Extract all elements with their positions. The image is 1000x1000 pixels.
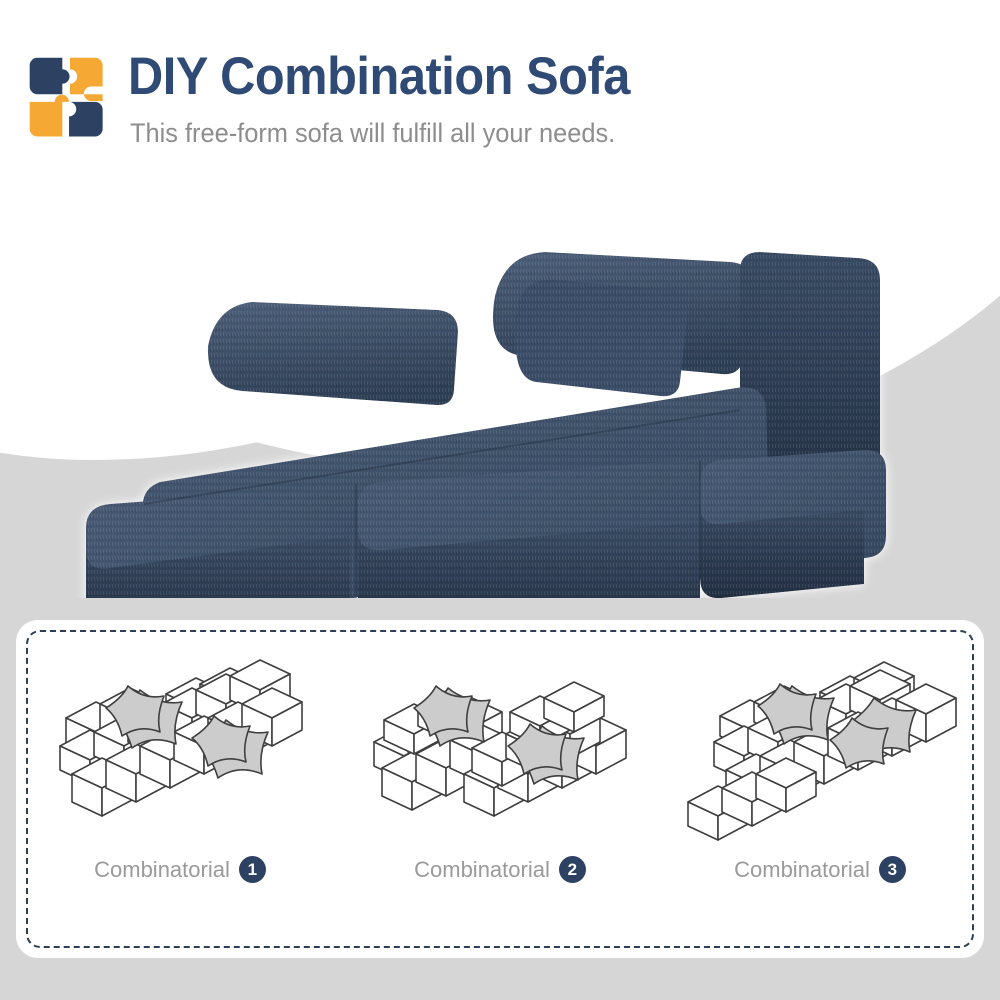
combination-badge-1: 1 [239, 856, 266, 883]
sofa-illustration [40, 178, 970, 598]
combination-badge-2: 2 [559, 856, 586, 883]
sofa-layout-with-ottoman-icon [680, 646, 960, 846]
combination-item-3[interactable]: Combinatorial 3 [660, 624, 980, 954]
combination-label-1: Combinatorial 1 [94, 856, 266, 883]
product-photo [40, 178, 970, 598]
combination-label-text-3: Combinatorial [734, 857, 870, 883]
combinations-card: Combinatorial 1 [20, 624, 980, 954]
page-subtitle: This free-form sofa will fulfill all you… [130, 116, 615, 150]
sofa-seat-module-3 [700, 450, 886, 598]
combination-list: Combinatorial 1 [20, 624, 980, 954]
hero-section: DIY Combination Sofa This free-form sofa… [0, 0, 1000, 612]
combination-label-3: Combinatorial 3 [734, 856, 906, 883]
sofa-cutout-group [86, 252, 886, 598]
combination-item-2[interactable]: Combinatorial 2 [340, 624, 660, 954]
header: DIY Combination Sofa This free-form sofa… [0, 0, 1000, 172]
combination-badge-3: 3 [879, 856, 906, 883]
sofa-seat-module-2 [358, 460, 720, 598]
pillow-back-right-front [515, 280, 688, 396]
page-title: DIY Combination Sofa [128, 48, 630, 106]
combination-label-text-1: Combinatorial [94, 857, 230, 883]
sofa-layout-offset-icon [360, 646, 640, 846]
pillow-back-left [208, 302, 458, 405]
combination-label-text-2: Combinatorial [414, 857, 550, 883]
combination-label-2: Combinatorial 2 [414, 856, 586, 883]
combination-item-1[interactable]: Combinatorial 1 [20, 624, 340, 954]
sofa-layout-straight-icon [40, 646, 320, 846]
product-marketing-page: DIY Combination Sofa This free-form sofa… [0, 0, 1000, 1000]
puzzle-four-piece-icon [22, 52, 118, 148]
sofa-seat-module-1 [86, 486, 372, 598]
